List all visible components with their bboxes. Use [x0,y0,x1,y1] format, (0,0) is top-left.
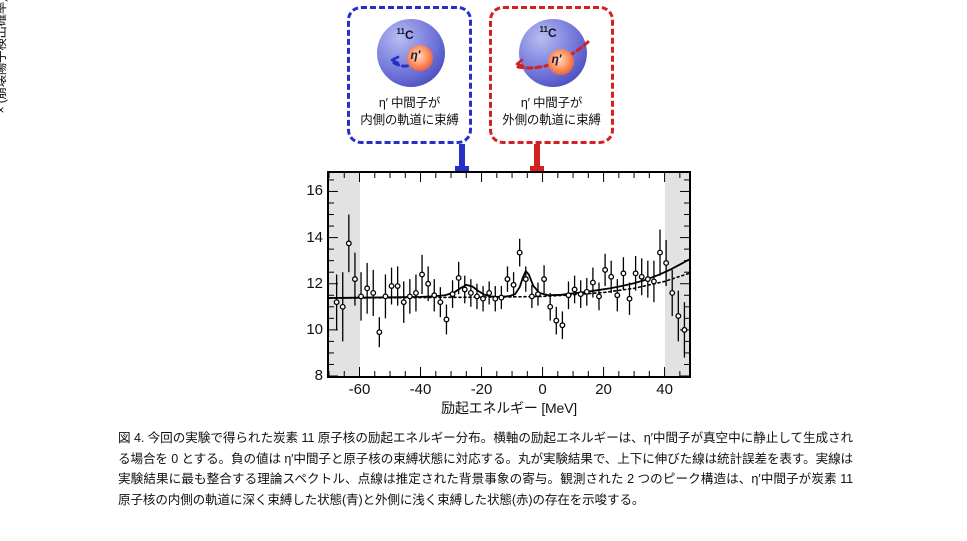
figure-caption: 図 4. 今回の実験で得られた炭素 11 原子核の励起エネルギー分布。横軸の励起… [118,428,853,510]
figure-root: η′ 11C η′ 中間子が 内側の軌道に束縛 η′ 11C η′ 中間子が 外… [0,0,967,541]
nucleus-label-outer: 11C [540,25,557,40]
eta-prime-label-inner: η′ [411,48,421,62]
y-tick-label: 12 [295,275,323,292]
x-tick-label: 40 [645,381,685,398]
x-tick-label: 20 [584,381,624,398]
nucleus-element-inner: C [405,28,414,42]
callout-inner-orbit: η′ 11C η′ 中間子が 内側の軌道に束縛 [347,6,472,144]
y-tick-label: 8 [295,367,323,384]
y-axis-title: (前方に重陽子が放出される断面積) × (崩壊陽子検出確率) [nb/(sr M… [0,0,9,150]
x-tick-label: 0 [523,381,563,398]
nucleus-illustration-outer: η′ 11C [509,15,595,93]
y-tick-label: 14 [295,229,323,246]
excitation-energy-spectrum-plot [327,171,691,378]
eta-prime-label-outer: η′ [552,52,562,66]
callout-outer-text: η′ 中間子が 外側の軌道に束縛 [502,95,600,129]
y-tick-label: 16 [295,182,323,199]
y-axis-title-line2: × (崩壊陽子検出確率) [nb/(sr MeV)] [0,0,9,150]
nucleus-mass-number-inner: 11 [397,27,405,36]
callout-inner-text: η′ 中間子が 内側の軌道に束縛 [360,95,458,129]
x-tick-label: -20 [462,381,502,398]
nucleus-mass-number-outer: 11 [540,25,548,34]
x-tick-label: -60 [340,381,380,398]
blue-connector-stem [459,144,465,166]
y-tick-label: 10 [295,321,323,338]
callout-outer-line1: η′ 中間子が [502,95,600,112]
callout-inner-line2: 内側の軌道に束縛 [360,112,458,129]
callout-outer-orbit: η′ 11C η′ 中間子が 外側の軌道に束縛 [489,6,614,144]
nucleus-illustration-inner: η′ 11C [367,15,453,93]
x-axis-title: 励起エネルギー [MeV] [327,398,691,418]
nucleus-label-inner: 11C [397,27,414,42]
x-tick-label: -40 [401,381,441,398]
nucleus-element-outer: C [548,26,557,40]
callout-outer-line2: 外側の軌道に束縛 [502,112,600,129]
callout-inner-line1: η′ 中間子が [360,95,458,112]
red-connector-stem [534,144,540,166]
plot-canvas [329,173,689,376]
figure-caption-text: 図 4. 今回の実験で得られた炭素 11 原子核の励起エネルギー分布。横軸の励起… [118,428,853,510]
